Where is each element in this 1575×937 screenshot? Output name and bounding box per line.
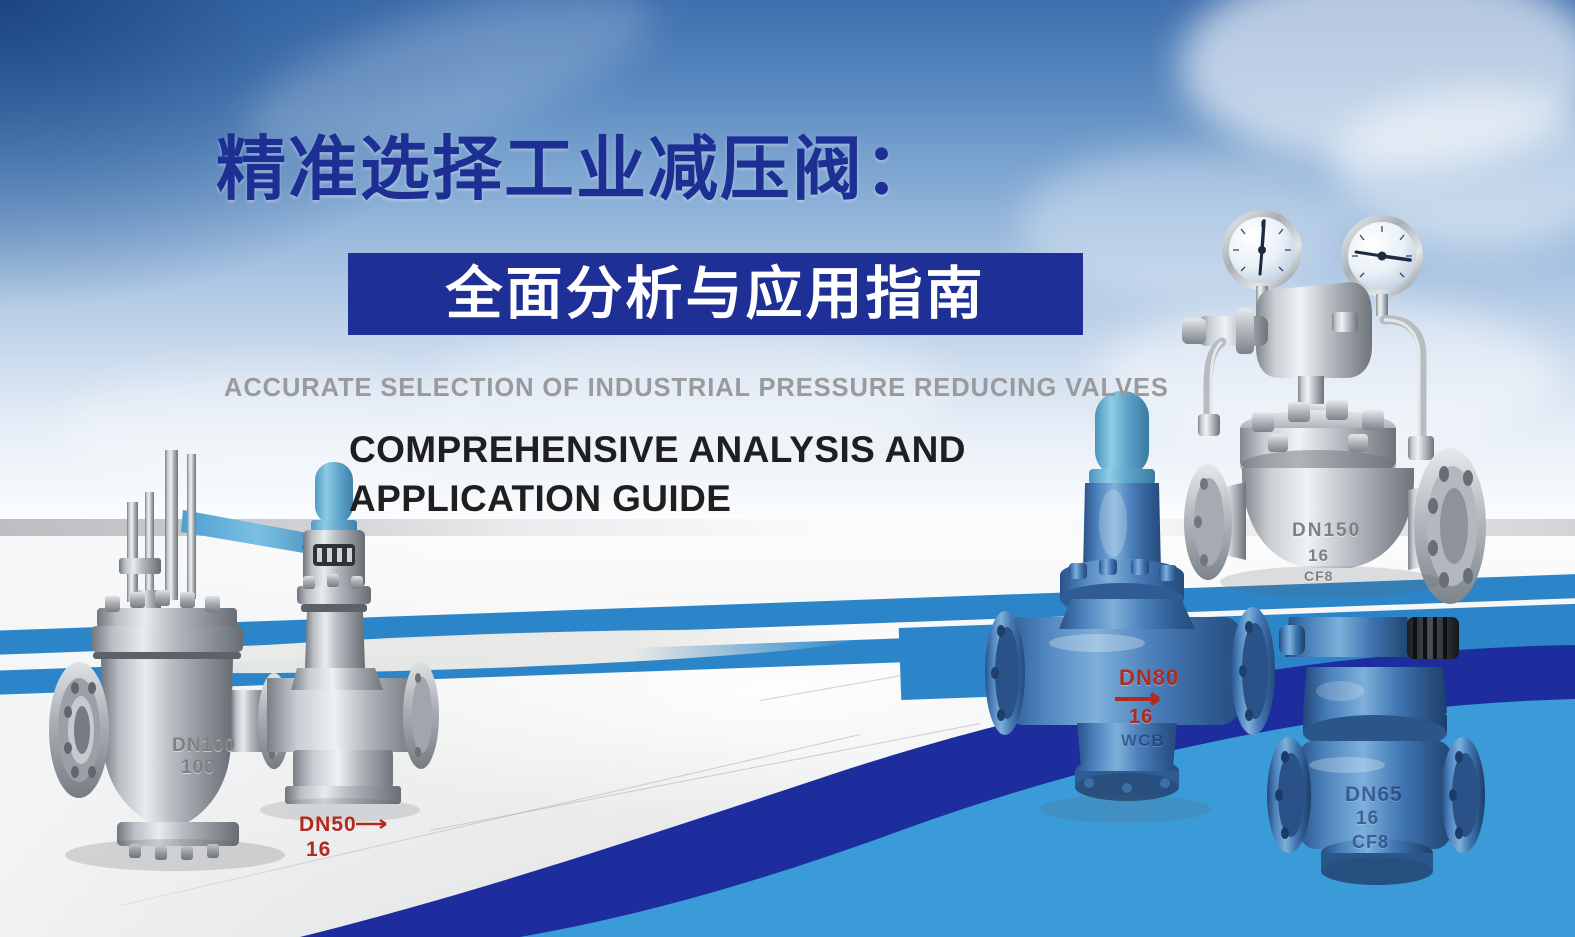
valve-marking-dn150-rating: 16 bbox=[1308, 546, 1329, 566]
valve-marking-dn65-rating: 16 bbox=[1356, 808, 1379, 830]
eyebrow-english: ACCURATE SELECTION OF INDUSTRIAL PRESSUR… bbox=[224, 374, 1169, 403]
flow-arrow-icon bbox=[356, 818, 396, 830]
promo-banner: DN100 100 DN50 16 bbox=[0, 0, 1575, 937]
flange-icon bbox=[1267, 737, 1311, 853]
flange-icon bbox=[49, 662, 109, 798]
flange-icon bbox=[1441, 737, 1485, 853]
flow-arrow-icon bbox=[1113, 692, 1171, 706]
spring-cap-icon bbox=[1089, 391, 1155, 485]
valve-marking-dn100: DN100 bbox=[172, 735, 236, 757]
heading-english: COMPREHENSIVE ANALYSIS AND APPLICATION G… bbox=[349, 425, 966, 523]
valve-marking-dn80-material: WCB bbox=[1121, 731, 1165, 751]
product-image-blue-dn80-valve bbox=[985, 385, 1305, 855]
valve-marking-dn65: DN65 bbox=[1345, 783, 1403, 807]
adjust-knob-icon bbox=[1407, 617, 1459, 659]
valve-marking-dn150-material: CF8 bbox=[1304, 568, 1333, 584]
flange-icon bbox=[985, 611, 1025, 735]
subtitle-highlight-box: 全面分析与应用指南 bbox=[348, 253, 1083, 335]
valve-marking-dn80: DN80 bbox=[1119, 665, 1179, 691]
valve-marking-dn50-rating: 16 bbox=[306, 838, 331, 862]
valve-marking-dn65-material: CF8 bbox=[1352, 832, 1389, 853]
pressure-gauge-icon bbox=[1222, 210, 1302, 290]
heading-english-line2: APPLICATION GUIDE bbox=[349, 474, 966, 523]
valve-marking-dn100-rating: 100 bbox=[181, 757, 216, 779]
page-title-chinese: 精准选择工业减压阀： bbox=[216, 133, 936, 207]
flange-icon bbox=[403, 661, 439, 769]
subtitle-chinese: 全面分析与应用指南 bbox=[446, 266, 986, 323]
heading-english-line1: COMPREHENSIVE ANALYSIS AND bbox=[349, 425, 966, 474]
product-image-blue-dn65-valve bbox=[1265, 595, 1575, 905]
valve-marking-dn80-rating: 16 bbox=[1129, 706, 1153, 729]
valve-marking-dn50: DN50 bbox=[299, 813, 357, 837]
